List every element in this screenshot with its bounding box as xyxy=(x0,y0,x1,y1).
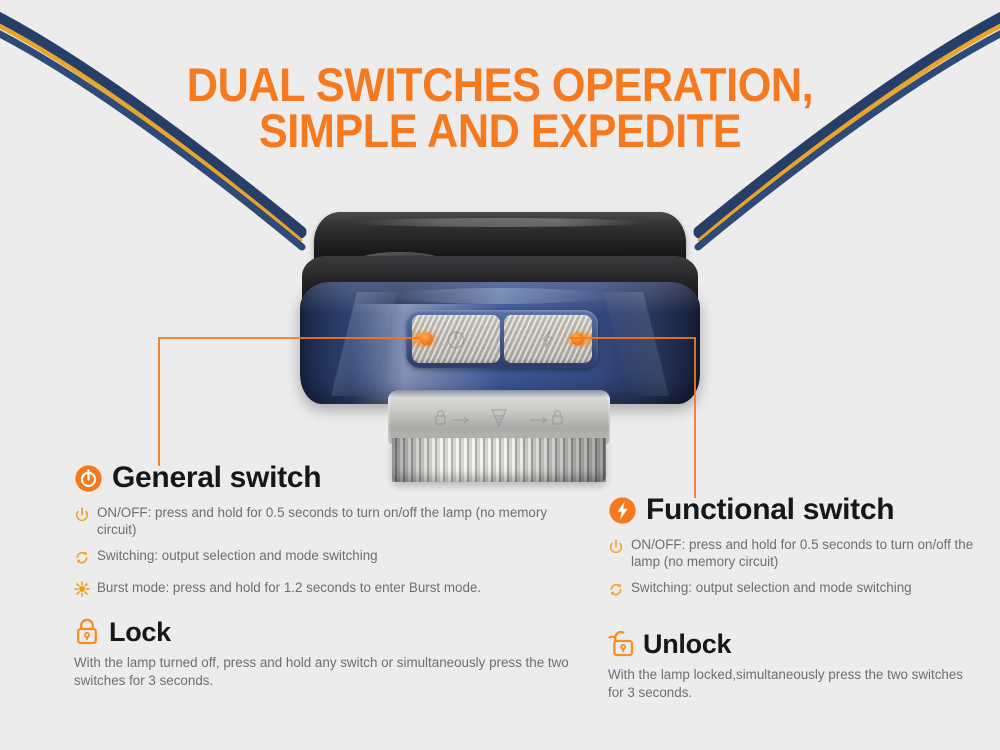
bullet-item: Switching: output selection and mode swi… xyxy=(74,547,574,570)
padlock-open-icon xyxy=(608,630,634,658)
bullet-item: ON/OFF: press and hold for 0.5 seconds t… xyxy=(608,536,978,570)
headlamp-product-image xyxy=(292,212,708,487)
lock-heading-row: Lock xyxy=(74,616,574,648)
functional-switch-bullets: ON/OFF: press and hold for 0.5 seconds t… xyxy=(608,536,978,602)
bullet-text: Switching: output selection and mode swi… xyxy=(97,547,378,564)
power-icon xyxy=(608,538,624,559)
unlock-heading: Unlock xyxy=(643,628,731,660)
bullet-item: ON/OFF: press and hold for 0.5 seconds t… xyxy=(74,504,574,538)
page-title: DUAL SWITCHES OPERATION, SIMPLE AND EXPE… xyxy=(0,62,1000,154)
general-switch-pad[interactable] xyxy=(412,315,500,363)
lock-section: Lock With the lamp turned off, press and… xyxy=(74,616,574,689)
lightning-circle-icon xyxy=(608,496,637,525)
bullet-item: Switching: output selection and mode swi… xyxy=(608,579,978,602)
general-switch-bullets: ON/OFF: press and hold for 0.5 seconds t… xyxy=(74,504,574,602)
unlock-heading-row: Unlock xyxy=(608,628,978,660)
title-line-1: DUAL SWITCHES OPERATION, xyxy=(40,62,960,108)
functional-switch-section: Functional switch ON/OFF: press and hold… xyxy=(608,494,978,701)
power-icon xyxy=(74,506,90,527)
bezel-engraving-icons xyxy=(388,404,610,440)
general-switch-heading: General switch xyxy=(112,462,321,494)
bullet-text: Burst mode: press and hold for 1.2 secon… xyxy=(97,579,481,596)
switch-cycle-icon xyxy=(74,549,90,570)
functional-switch-heading: Functional switch xyxy=(646,494,894,526)
power-symbol-engraving xyxy=(445,328,467,350)
infographic-canvas: DUAL SWITCHES OPERATION, SIMPLE AND EXPE… xyxy=(0,0,1000,750)
unlock-description: With the lamp locked,simultaneously pres… xyxy=(608,666,978,701)
bullet-text: ON/OFF: press and hold for 0.5 seconds t… xyxy=(97,504,574,538)
title-line-2: SIMPLE AND EXPEDITE xyxy=(40,108,960,154)
functional-switch-pad[interactable] xyxy=(504,315,592,363)
lock-description: With the lamp turned off, press and hold… xyxy=(74,654,574,689)
bullet-item: Burst mode: press and hold for 1.2 secon… xyxy=(74,579,574,602)
general-switch-heading-row: General switch xyxy=(74,462,574,494)
general-switch-section: General switch ON/OFF: press and hold fo… xyxy=(74,462,574,689)
unlock-section: Unlock With the lamp locked,simultaneous… xyxy=(608,628,978,701)
lock-heading: Lock xyxy=(109,616,171,648)
switch-panel xyxy=(406,310,598,368)
burst-sun-icon xyxy=(74,581,90,602)
lightning-symbol-engraving xyxy=(538,328,558,350)
bullet-text: Switching: output selection and mode swi… xyxy=(631,579,912,596)
bullet-text: ON/OFF: press and hold for 0.5 seconds t… xyxy=(631,536,978,570)
functional-switch-heading-row: Functional switch xyxy=(608,494,978,526)
padlock-closed-icon xyxy=(74,618,100,646)
power-circle-icon xyxy=(74,464,103,493)
switch-cycle-icon xyxy=(608,581,624,602)
bezel-ring xyxy=(388,390,610,444)
